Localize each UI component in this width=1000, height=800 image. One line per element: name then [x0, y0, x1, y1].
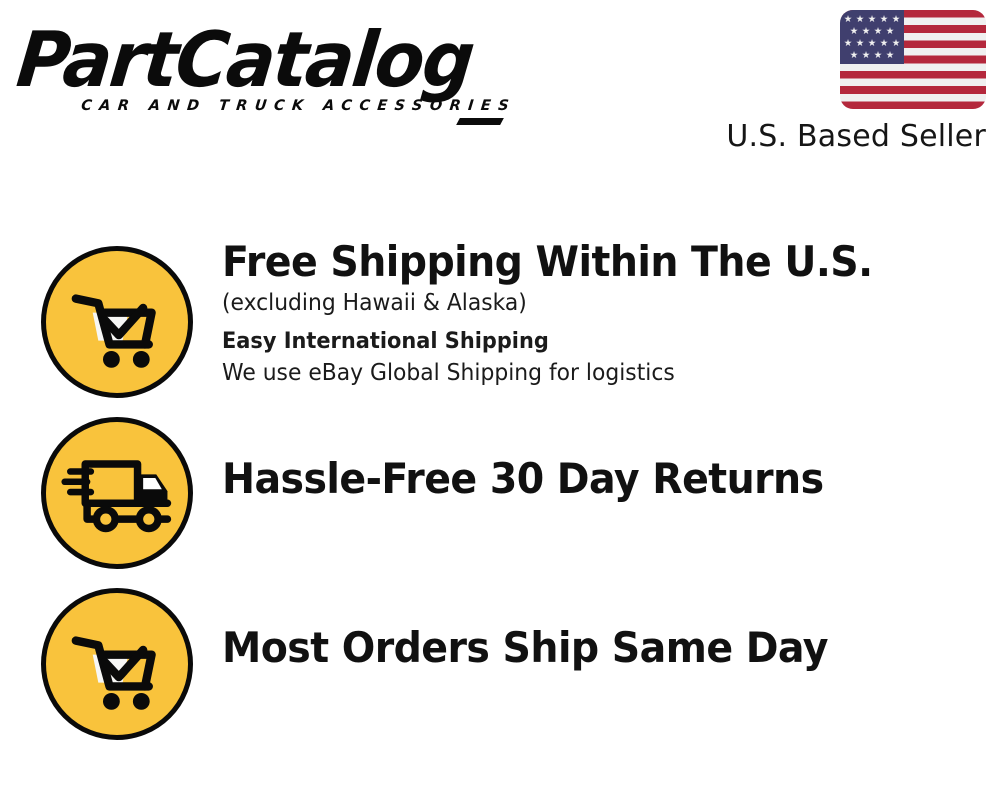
feature-text-block: Hassle-Free 30 Day Returns — [222, 454, 982, 504]
us-flag-icon: ★★★★★ ★★★★ ★★★★★ ★★★★ — [840, 10, 986, 109]
feature-subtitle: Easy International Shipping — [222, 327, 944, 357]
flag-star-row: ★★★★ — [840, 51, 904, 61]
feature-text-block: Free Shipping Within The U.S. (excluding… — [222, 237, 982, 388]
feature-row-returns: Hassle-Free 30 Day Returns — [0, 408, 1000, 579]
flag-star-row: ★★★★★ — [840, 39, 904, 49]
flag-star-row: ★★★★ — [840, 27, 904, 37]
shipping-info-banner: PartCatalog CAR AND TRUCK ACCESSORIES ★★… — [0, 0, 1000, 800]
feature-row-same-day: Most Orders Ship Same Day — [0, 579, 1000, 750]
brand-underline-accent — [456, 118, 504, 125]
feature-subtext: We use eBay Global Shipping for logistic… — [222, 358, 944, 388]
feature-title: Free Shipping Within The U.S. — [222, 237, 936, 287]
cart-check-icon — [41, 246, 193, 398]
feature-title: Most Orders Ship Same Day — [222, 623, 936, 673]
feature-row-free-shipping: Free Shipping Within The U.S. (excluding… — [0, 237, 1000, 408]
feature-title: Hassle-Free 30 Day Returns — [222, 454, 936, 504]
brand-wordmark: PartCatalog — [13, 18, 492, 101]
feature-text-block: Most Orders Ship Same Day — [222, 623, 982, 673]
feature-list: Free Shipping Within The U.S. (excluding… — [0, 237, 1000, 750]
us-based-seller-block: ★★★★★ ★★★★ ★★★★★ ★★★★ U.S. Based Seller — [696, 10, 986, 154]
cart-check-icon — [41, 588, 193, 740]
brand-tagline: CAR AND TRUCK ACCESSORIES — [80, 98, 492, 114]
delivery-truck-icon — [41, 417, 193, 569]
feature-note: (excluding Hawaii & Alaska) — [222, 288, 944, 318]
us-based-seller-label: U.S. Based Seller — [696, 120, 986, 154]
brand-logo: PartCatalog CAR AND TRUCK ACCESSORIES — [22, 18, 492, 118]
flag-star-row: ★★★★★ — [840, 15, 904, 25]
